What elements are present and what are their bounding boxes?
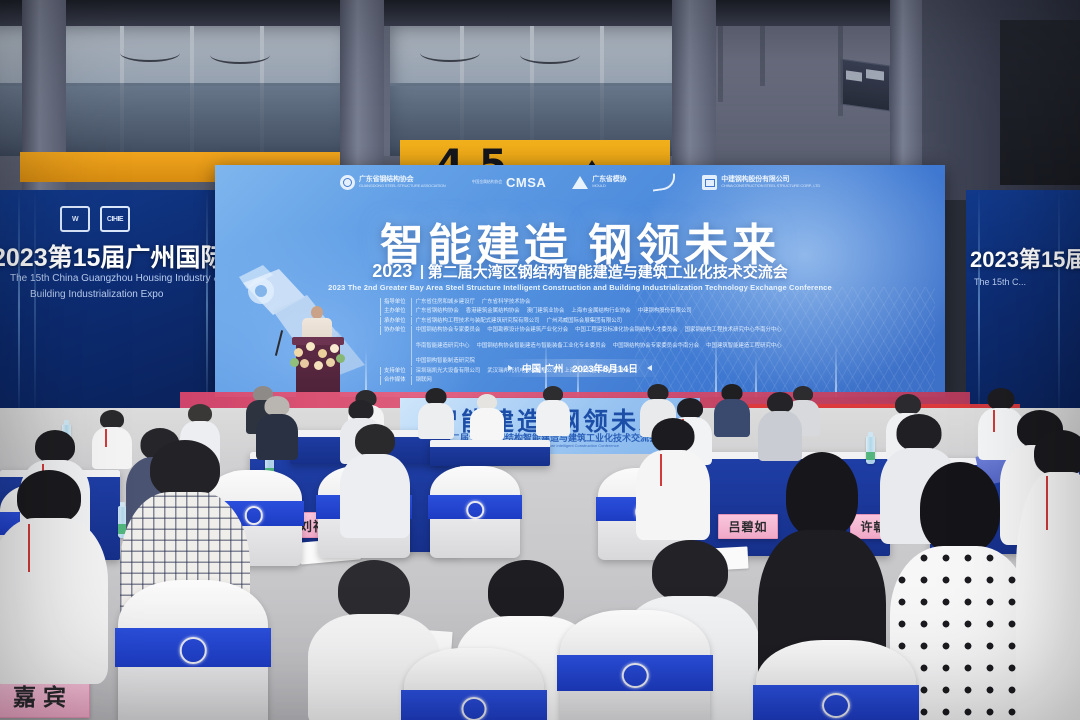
audience-person-b3 <box>256 396 298 458</box>
conference-year: 2023 <box>372 261 412 281</box>
chair-c3 <box>430 466 520 558</box>
chair-f2 <box>560 610 710 720</box>
credit-value-1-1: 香港建筑金属结构协会 <box>466 307 520 316</box>
credit-value-3-1: 中国勘察设计协会建筑产业化分会 <box>487 326 568 335</box>
window-bay-left <box>40 26 360 156</box>
left-banner-title: 2023第15届广州国际住博会 <box>0 238 232 274</box>
left-banner-logos: W CIHIE <box>60 206 130 232</box>
cihie-logo-icon: CIHIE <box>100 206 130 232</box>
left-banner-subtitle-line1: The 15th China Guangzhou Housing Industr… <box>10 272 220 287</box>
audience-person-a4 <box>470 394 504 438</box>
audience-person-a3 <box>418 388 454 436</box>
conference-subtitle-en: 2023 The 2nd Greater Bay Area Steel Stru… <box>215 283 945 292</box>
credit-label-3: 协办单位 <box>380 326 406 335</box>
credit-value-2-1: 广州鸿威国际会展集团有限公司 <box>547 317 622 326</box>
sponsor-logo-4: 中建钢构股份有限公司 CHINA CONSTRUCTION STEEL STRU… <box>702 175 820 190</box>
left-banner-subtitle-line2: Building Industrialization Expo <box>30 288 163 303</box>
sponsor-name-2: 广东省模协 <box>592 176 626 183</box>
credit-value-1-0: 广东省钢结构协会 <box>416 307 459 316</box>
credit-value-3-5: 中国钢结构协会智能建造与智能装备工业化专业委员会 <box>477 342 606 351</box>
hanging-cable-4 <box>520 46 580 64</box>
credit-row-1: 主办单位 广东省钢结构协会 香港建筑金属结构协会 澳门建筑业协会 上海市金属结构… <box>380 307 800 316</box>
sponsor-logo-2: 广东省模协 MOULD <box>572 176 626 189</box>
ceiling-pipe-2 <box>760 26 765 86</box>
ceiling-pipe-1 <box>718 26 723 102</box>
credit-value-0-0: 广东省住房和城乡建设厅 <box>416 298 475 307</box>
credit-value-3-0: 中国钢结构协会专家委员会 <box>416 326 481 335</box>
credit-value-3-3: 国家钢结构工程技术研究中心华南分中心 <box>685 326 782 335</box>
sponsor-logo-1: 中国金属结构协会 CMSA <box>472 175 547 190</box>
sponsor-logo-row: 广东省钢结构协会 GUANGDONG STEEL STRUCTURE ASSOC… <box>215 175 945 190</box>
sponsor-sub-0: GUANGDONG STEEL STRUCTURE ASSOCIATION <box>359 184 446 189</box>
credit-value-2-0: 广东省钢结构工程技术与装配式建筑研究院有限公司 <box>416 317 540 326</box>
credit-value-1-4: 中建钢构股份有限公司 <box>638 307 692 316</box>
credit-label-1: 主办单位 <box>380 307 406 316</box>
chair-f1 <box>118 580 268 720</box>
mould-mark-icon <box>572 176 588 189</box>
right-banner-title: 2023第15届 <box>970 242 1080 274</box>
sponsor-name-1: CMSA <box>506 175 546 190</box>
audience-person-a5 <box>536 386 570 434</box>
wayfinding-sign-icon <box>840 58 890 111</box>
audience-person-b6 <box>758 392 802 458</box>
right-banner-subtitle: The 15th C... <box>974 276 1026 289</box>
credit-label-0: 指导单位 <box>380 298 406 307</box>
ceiling-pipe-3 <box>838 26 843 116</box>
credit-value-5-0: 钢联网 <box>416 376 432 385</box>
sponsor-logo-0: 广东省钢结构协会 GUANGDONG STEEL STRUCTURE ASSOC… <box>340 175 446 190</box>
conference-subtitle-cn: 2023第二届大湾区钢结构智能建造与建筑工业化技术交流会 <box>215 261 945 282</box>
cscs-mark-icon <box>702 175 717 190</box>
hanging-cable-3 <box>420 44 480 62</box>
conference-subtitle-cn-text: 第二届大湾区钢结构智能建造与建筑工业化技术交流会 <box>428 264 788 281</box>
event-location: 中国·广州 <box>522 361 563 375</box>
sponsor-sub-4: CHINA CONSTRUCTION STEEL STRUCTURE CORP.… <box>721 184 820 189</box>
credit-value-3-7: 中国建筑智能建造工程研究中心 <box>706 342 781 351</box>
credit-value-3-6: 中国钢结构协会专家委员会华南分会 <box>613 342 699 351</box>
chair-f3 <box>756 640 916 720</box>
gdssa-mark-icon <box>340 175 355 190</box>
sponsor-name-0: 广东省钢结构协会 <box>359 176 413 183</box>
credit-row-2: 承办单位 广东省钢结构工程技术与装配式建筑研究院有限公司 广州鸿威国际会展集团有… <box>380 317 800 326</box>
left-expo-banner: W CIHIE 2023第15届广州国际住博会 The 15th China G… <box>0 190 232 420</box>
hall-doorway <box>1000 20 1080 185</box>
audience-person-a7 <box>714 384 750 434</box>
audience-person-c3 <box>340 424 410 534</box>
flower-arrangement <box>288 340 348 374</box>
credit-value-3-2: 中国工程建设标准化协会钢结构人才委员会 <box>575 326 677 335</box>
sponsor-logo-3 <box>652 175 676 190</box>
expo-bird-logo-icon: W <box>60 206 90 232</box>
hanging-cable-1 <box>120 44 180 62</box>
chair-f4 <box>404 648 544 720</box>
credit-value-0-1: 广东省科学技术协会 <box>482 298 531 307</box>
sponsor-name-4: 中建钢构股份有限公司 <box>721 176 789 183</box>
audience-person-d8 <box>1016 430 1080 720</box>
credit-label-5: 合作媒体 <box>380 376 406 385</box>
credit-value-3-4: 华南智能建造研究中心 <box>416 342 470 351</box>
audience-person-d1 <box>0 470 108 680</box>
event-date: 2023年8月14日 <box>572 361 637 375</box>
conference-photo: 4.5 W CIHIE 2023第15届广州国际住博会 The 15th Chi… <box>0 0 1080 720</box>
right-expo-banner: 2023第15届 The 15th C... <box>966 190 1080 420</box>
right-triangle-icon <box>647 365 652 371</box>
credit-value-1-3: 上海市金属结构行业协会 <box>571 307 630 316</box>
credit-row-0: 指导单位 广东省住房和城乡建设厅 广东省科学技术协会 <box>380 298 800 307</box>
swoosh-mark-icon <box>651 173 677 191</box>
hanging-cable-2 <box>210 46 270 64</box>
table-row-0-far <box>430 440 550 466</box>
credit-label-2: 承办单位 <box>380 317 406 326</box>
left-triangle-icon <box>508 365 513 371</box>
credit-value-1-2: 澳门建筑业协会 <box>527 307 565 316</box>
sponsor-sub-2: MOULD <box>592 184 626 189</box>
audience-person-c4 <box>636 418 710 536</box>
